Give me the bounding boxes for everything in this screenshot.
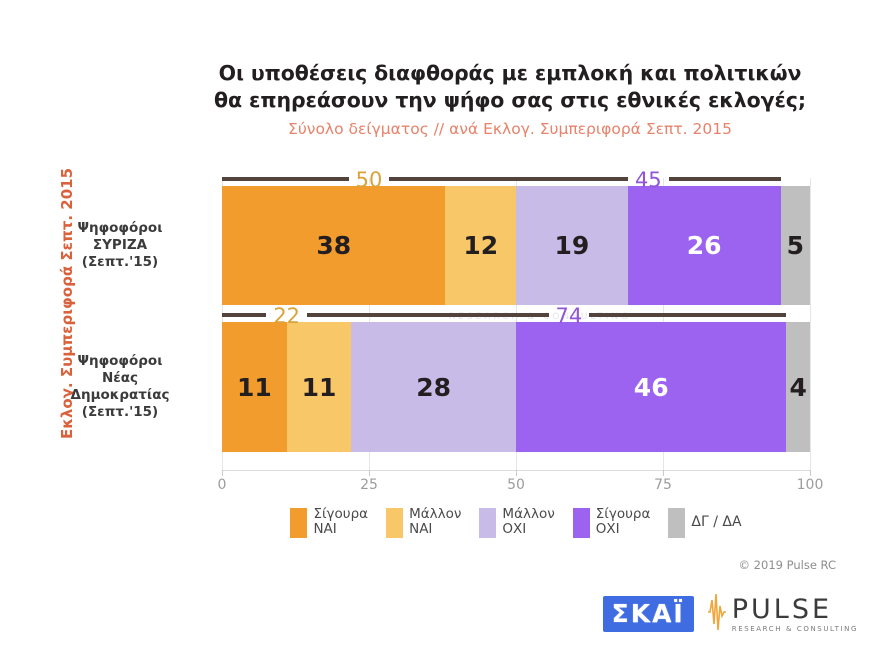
copyright-notice: © 2019 Pulse RC	[739, 558, 836, 572]
legend-item[interactable]: ΣίγουραΟΧΙ	[573, 507, 651, 538]
bar-segment-value: 12	[463, 233, 498, 258]
x-axis-tick	[663, 470, 664, 476]
legend-label-line: ΔΓ / ΔΑ	[691, 515, 741, 530]
x-axis-tick-label: 100	[797, 477, 824, 493]
legend-swatch	[479, 508, 496, 538]
legend-item[interactable]: ΔΓ / ΔΑ	[668, 507, 741, 538]
footer-logos: ΣΚΑΪ PULSE RESEARCH & CONSULTING	[603, 592, 858, 636]
legend-swatch	[573, 508, 590, 538]
bracket-annotation-value: 50	[349, 170, 390, 191]
bracket-annotation-value: 22	[266, 306, 307, 327]
legend-item[interactable]: ΜάλλονΝΑΙ	[386, 507, 461, 538]
chart-plot-area: 38121926511112846450452274	[222, 178, 810, 470]
bar-segment-value: 38	[316, 233, 351, 258]
bracket-dash-left	[351, 313, 548, 317]
x-axis-tick-label: 50	[507, 477, 525, 493]
legend-swatch	[668, 508, 685, 538]
category-label-line: (Σεπτ.'15)	[30, 404, 210, 421]
pulse-logo-wordmark: PULSE RESEARCH & CONSULTING	[732, 596, 858, 633]
legend-label: ΜάλλονΝΑΙ	[409, 507, 461, 537]
legend-label-line: ΟΧΙ	[502, 522, 554, 537]
category-label-line: Δημοκρατίας	[30, 387, 210, 404]
legend-swatch	[290, 508, 307, 538]
bracket-dash-right	[389, 177, 516, 181]
bracket-annotation-value: 45	[628, 170, 669, 191]
bar-segment[interactable]: 5	[781, 186, 810, 305]
skai-logo-text: ΣΚΑΪ	[612, 600, 685, 627]
pulse-waveform-icon	[706, 592, 728, 636]
bar-segment[interactable]: 11	[287, 322, 352, 452]
legend-label-line: Σίγουρα	[596, 507, 651, 522]
pulse-logo-main-text: PULSE	[732, 596, 858, 624]
bar-row[interactable]: 111128464	[222, 322, 810, 452]
x-axis-tick	[369, 470, 370, 476]
bar-row[interactable]: 381219265	[222, 186, 810, 305]
legend-label-line: Σίγουρα	[313, 507, 368, 522]
chart-subtitle: Σύνολο δείγματος // ανά Εκλογ. Συμπεριφο…	[190, 117, 830, 141]
bracket-annotation: 45	[516, 168, 781, 190]
bracket-dash-right	[307, 313, 351, 317]
bar-segment[interactable]: 46	[516, 322, 786, 452]
bracket-dash-left	[516, 177, 628, 181]
category-label-line: (Σεπτ.'15)	[30, 254, 210, 271]
legend-label: ΣίγουραΟΧΙ	[596, 507, 651, 537]
bar-segment-value: 19	[554, 233, 589, 258]
bar-segment-value: 46	[634, 375, 669, 400]
legend-label-line: ΟΧΙ	[596, 522, 651, 537]
bar-segment-value: 11	[237, 375, 272, 400]
x-axis-tick-label: 25	[360, 477, 378, 493]
legend-label: ΔΓ / ΔΑ	[691, 507, 741, 530]
legend-label-line: ΝΑΙ	[313, 522, 368, 537]
bracket-dash-right	[669, 177, 781, 181]
category-label-line: Νέας	[30, 370, 210, 387]
legend-label-line: Μάλλον	[502, 507, 554, 522]
bar-segment[interactable]: 19	[516, 186, 628, 305]
bar-segment-value: 11	[302, 375, 337, 400]
bar-segment[interactable]: 12	[445, 186, 516, 305]
gridline	[810, 178, 811, 470]
legend-label-line: ΝΑΙ	[409, 522, 461, 537]
page-title-line-2: θα επηρεάσουν την ψήφο σας στις εθνικές …	[190, 87, 830, 114]
category-label: ΨηφοφόροιΣΥΡΙΖΑ(Σεπτ.'15)	[30, 220, 210, 271]
x-axis-tick	[810, 470, 811, 476]
x-axis: 0255075100	[222, 470, 810, 496]
category-label-line: Ψηφοφόροι	[30, 353, 210, 370]
legend-item[interactable]: ΣίγουραΝΑΙ	[290, 507, 368, 538]
legend-label: ΜάλλονΟΧΙ	[502, 507, 554, 537]
bar-segment-value: 28	[416, 375, 451, 400]
bracket-annotation: 22	[222, 304, 351, 326]
legend-label: ΣίγουραΝΑΙ	[313, 507, 368, 537]
page-title-line-1: Οι υποθέσεις διαφθοράς με εμπλοκή και πο…	[190, 60, 830, 87]
category-label-line: ΣΥΡΙΖΑ	[30, 237, 210, 254]
x-axis-tick-label: 75	[654, 477, 672, 493]
bar-segment[interactable]: 38	[222, 186, 445, 305]
legend-swatch	[386, 508, 403, 538]
bracket-annotation: 50	[222, 168, 516, 190]
x-axis-tick	[516, 470, 517, 476]
bar-segment-value: 26	[687, 233, 722, 258]
x-axis-tick-label: 0	[218, 477, 227, 493]
legend-item[interactable]: ΜάλλονΟΧΙ	[479, 507, 554, 538]
bar-segment[interactable]: 11	[222, 322, 287, 452]
bar-segment-value: 5	[787, 233, 804, 258]
category-labels: ΨηφοφόροιΣΥΡΙΖΑ(Σεπτ.'15)ΨηφοφόροιΝέαςΔη…	[20, 178, 210, 470]
bracket-annotation: 74	[351, 304, 786, 326]
bar-segment[interactable]: 4	[786, 322, 810, 452]
bar-segment[interactable]: 28	[351, 322, 516, 452]
bar-segment-value: 4	[789, 375, 806, 400]
legend-label-line: Μάλλον	[409, 507, 461, 522]
category-label: ΨηφοφόροιΝέαςΔημοκρατίας(Σεπτ.'15)	[30, 353, 210, 421]
pulse-logo: PULSE RESEARCH & CONSULTING	[706, 592, 858, 636]
chart-header: Οι υποθέσεις διαφθοράς με εμπλοκή και πο…	[190, 60, 830, 141]
bar-segment[interactable]: 26	[628, 186, 781, 305]
bracket-dash-right	[589, 313, 786, 317]
bracket-annotation-value: 74	[549, 306, 590, 327]
x-axis-tick	[222, 470, 223, 476]
bracket-dash-left	[222, 177, 349, 181]
bracket-dash-left	[222, 313, 266, 317]
pulse-logo-sub-text: RESEARCH & CONSULTING	[732, 626, 858, 633]
chart-legend: ΣίγουραΝΑΙΜάλλονΝΑΙΜάλλονΟΧΙΣίγουραΟΧΙΔΓ…	[222, 507, 810, 538]
category-label-line: Ψηφοφόροι	[30, 220, 210, 237]
skai-logo: ΣΚΑΪ	[603, 596, 694, 632]
